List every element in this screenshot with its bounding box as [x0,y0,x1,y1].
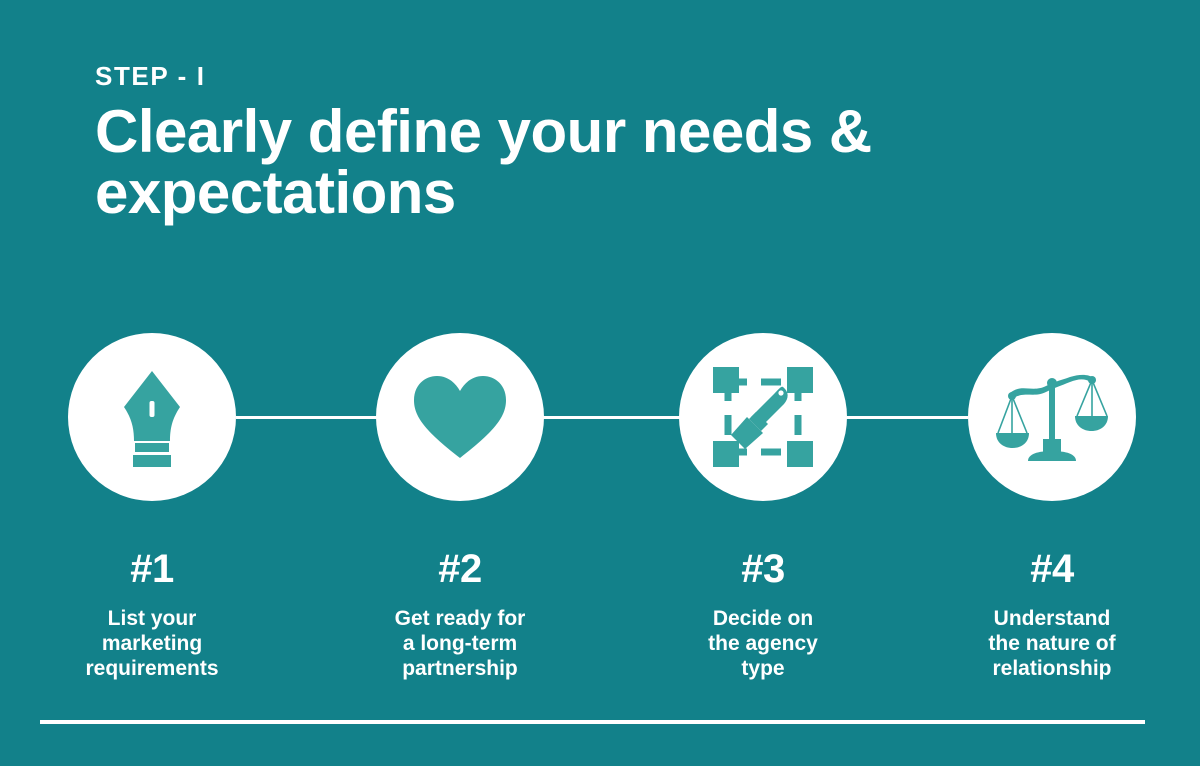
step-number-2: #2 [340,549,580,589]
step-caption-3: Decide on the agency type [643,607,883,681]
step-caption-1: List your marketing requirements [32,607,272,681]
step-icon-circle-2 [376,333,544,501]
steps-row: #1 List your marketing requirements #2 G… [0,333,1200,683]
page-title: Clearly define your needs & expectations [95,101,925,223]
step-icon-circle-3 [679,333,847,501]
step-caption-4: Understand the nature of relationship [932,607,1172,681]
heart-icon [412,374,508,460]
step-number-1: #1 [32,549,272,589]
header: STEP - I Clearly define your needs & exp… [95,62,995,223]
step-icon-circle-4 [968,333,1136,501]
balance-scale-icon [996,367,1108,467]
step-number-3: #3 [643,549,883,589]
step-number-4: #4 [932,549,1172,589]
step-item-2[interactable]: #2 Get ready for a long-term partnership [340,333,580,681]
step-label: STEP - I [95,62,995,91]
step-caption-2: Get ready for a long-term partnership [340,607,580,681]
infographic-slide: STEP - I Clearly define your needs & exp… [0,0,1200,766]
step-icon-circle-1 [68,333,236,501]
step-item-3[interactable]: #3 Decide on the agency type [643,333,883,681]
step-item-1[interactable]: #1 List your marketing requirements [32,333,272,681]
paintbrush-selection-icon [711,365,815,469]
step-item-4[interactable]: #4 Understand the nature of relationship [932,333,1172,681]
bottom-divider [40,720,1145,724]
pen-nib-icon [106,367,198,467]
